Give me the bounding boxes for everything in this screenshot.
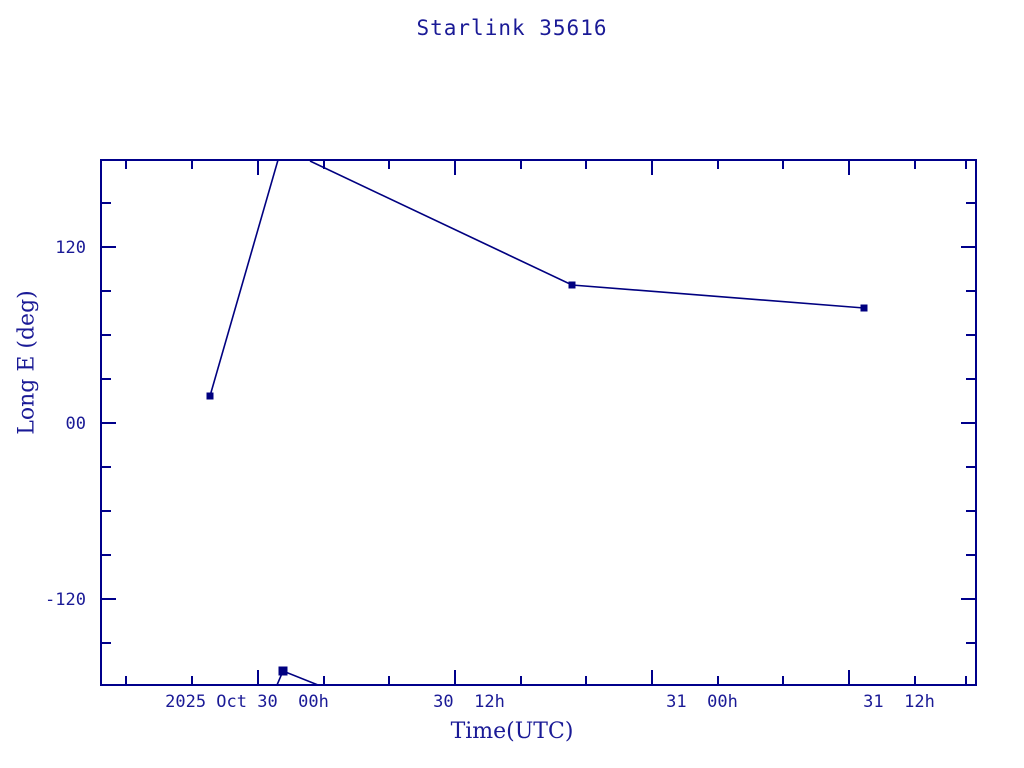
data-series-group [207,160,867,685]
data-point-marker [207,393,213,399]
x-axis-minor-ticks-top [126,160,966,169]
data-point-marker [279,667,287,675]
series-segment-descending [310,161,864,308]
chart-canvas: Starlink 35616 Long E (deg) Time(UTC) 12… [0,0,1024,768]
x-axis-major-ticks [258,670,849,685]
plot-frame [101,160,976,685]
x-axis-minor-ticks [126,676,966,685]
data-point-marker [861,305,867,311]
plot-area [0,0,1024,768]
data-point-marker [569,282,575,288]
x-axis-major-ticks-top [258,160,849,175]
y-axis-ticks [101,247,116,599]
series-segment-ascending [210,160,278,396]
y-axis-ticks-right [961,247,976,599]
